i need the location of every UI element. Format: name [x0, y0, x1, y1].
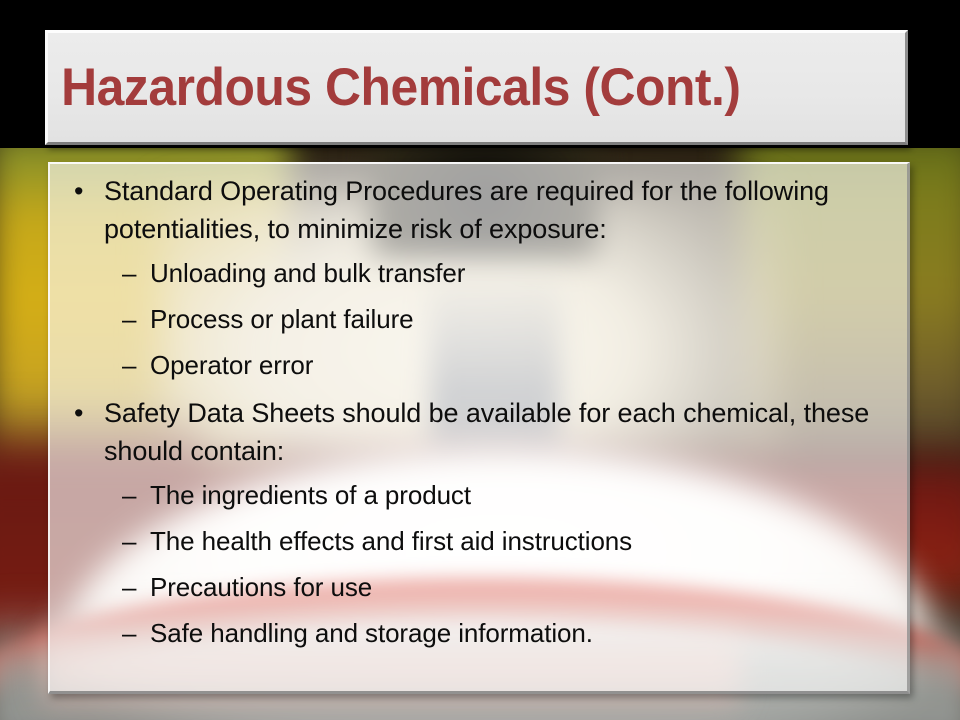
presentation-slide: Hazardous Chemicals (Cont.) •Standard Op… [0, 0, 960, 720]
sub-bullet-item: –Process or plant failure [60, 296, 891, 342]
sub-bullet-item: –Unloading and bulk transfer [60, 250, 891, 296]
bullet-text: Precautions for use [150, 572, 372, 602]
page-title: Hazardous Chemicals (Cont.) [48, 61, 741, 114]
dash-marker-icon: – [122, 296, 136, 342]
slide-body-plate: •Standard Operating Procedures are requi… [48, 162, 910, 694]
sub-bullet-item: –The ingredients of a product [60, 472, 891, 518]
dash-marker-icon: – [122, 472, 136, 518]
sub-bullet-item: –The health effects and first aid instru… [60, 518, 891, 564]
bullet-text: Safe handling and storage information. [150, 618, 593, 648]
dash-marker-icon: – [122, 610, 136, 656]
slide-title-plate: Hazardous Chemicals (Cont.) [45, 30, 908, 145]
dash-marker-icon: – [122, 250, 136, 296]
bullet-list: •Standard Operating Procedures are requi… [60, 172, 891, 656]
bullet-text: The health effects and first aid instruc… [150, 526, 632, 556]
bullet-item: •Standard Operating Procedures are requi… [60, 172, 891, 248]
sub-bullet-item: –Safe handling and storage information. [60, 610, 891, 656]
dash-marker-icon: – [122, 342, 136, 388]
sub-bullet-item: –Precautions for use [60, 564, 891, 610]
dash-marker-icon: – [122, 564, 136, 610]
bullet-marker-icon: • [74, 394, 83, 432]
bullet-text: Operator error [150, 350, 313, 380]
bullet-text: The ingredients of a product [150, 480, 471, 510]
bullet-text: Standard Operating Procedures are requir… [104, 176, 829, 244]
bullet-text: Unloading and bulk transfer [150, 258, 465, 288]
dash-marker-icon: – [122, 518, 136, 564]
bullet-item: •Safety Data Sheets should be available … [60, 394, 891, 470]
sub-bullet-item: –Operator error [60, 342, 891, 388]
bullet-text: Process or plant failure [150, 304, 414, 334]
bullet-marker-icon: • [74, 172, 83, 210]
bullet-text: Safety Data Sheets should be available f… [104, 398, 869, 466]
